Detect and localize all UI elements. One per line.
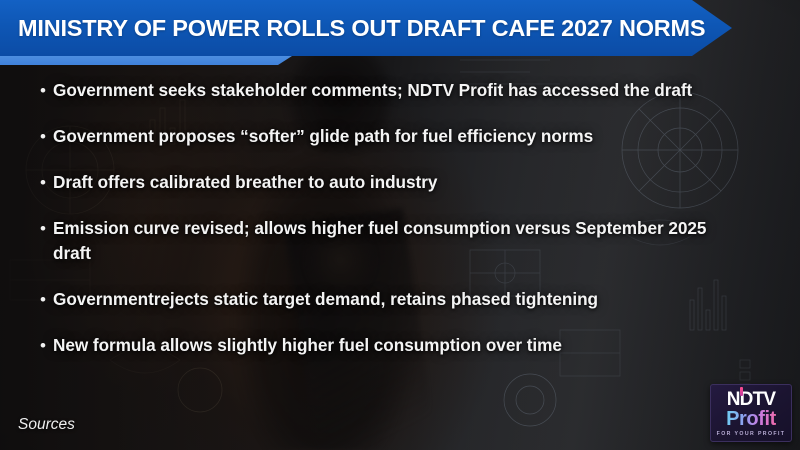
bullet-point-icon: • (40, 333, 53, 358)
list-item: • Governmentrejects static target demand… (40, 287, 730, 312)
ndtv-profit-logo: NDTV Profit FOR YOUR PROFIT (710, 384, 792, 442)
list-item-text: Government seeks stakeholder comments; N… (53, 78, 692, 103)
bullet-list: • Government seeks stakeholder comments;… (40, 78, 730, 379)
bullet-point-icon: • (40, 287, 53, 312)
page-title: MINISTRY OF POWER ROLLS OUT DRAFT CAFE 2… (0, 15, 705, 42)
list-item: • Government proposes “softer” glide pat… (40, 124, 730, 149)
list-item: • Government seeks stakeholder comments;… (40, 78, 730, 103)
news-slide: MINISTRY OF POWER ROLLS OUT DRAFT CAFE 2… (0, 0, 800, 450)
list-item: • Emission curve revised; allows higher … (40, 216, 730, 266)
list-item-text: Draft offers calibrated breather to auto… (53, 170, 437, 195)
headline-banner: MINISTRY OF POWER ROLLS OUT DRAFT CAFE 2… (0, 0, 732, 56)
list-item-text: New formula allows slightly higher fuel … (53, 333, 562, 358)
bullet-point-icon: • (40, 170, 53, 195)
list-item-text: Emission curve revised; allows higher fu… (53, 216, 713, 266)
logo-brand-text: NDTV (727, 390, 776, 409)
sources-label: Sources (18, 416, 75, 434)
list-item-text: Governmentrejects static target demand, … (53, 287, 598, 312)
list-item-text: Government proposes “softer” glide path … (53, 124, 593, 149)
list-item: • New formula allows slightly higher fue… (40, 333, 730, 358)
logo-product-text: Profit (726, 409, 776, 430)
list-item: • Draft offers calibrated breather to au… (40, 170, 730, 195)
bullet-point-icon: • (40, 78, 53, 103)
bullet-point-icon: • (40, 124, 53, 149)
headline-accent-bar (0, 56, 292, 65)
bullet-point-icon: • (40, 216, 53, 241)
logo-tagline-text: FOR YOUR PROFIT (717, 430, 786, 438)
